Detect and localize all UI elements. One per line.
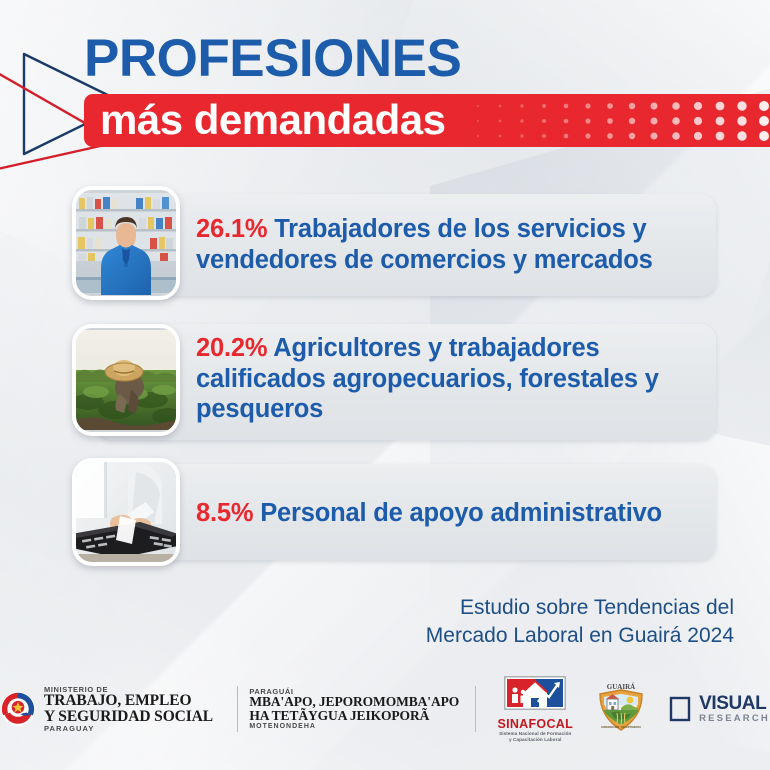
- card-percent: 8.5%: [196, 499, 253, 527]
- list-item: 8.5% Personal de apoyo administrativo: [0, 454, 770, 572]
- farmer-in-field-photo: [76, 328, 176, 432]
- card-thumbnail: [72, 186, 180, 300]
- list-item: 20.2% Agricultores y trabajadores califi…: [0, 320, 770, 438]
- card-percent: 20.2%: [196, 334, 267, 362]
- logo-guarani-wordmark: PARAGUÁI MBA'APO, JEPOROMOMBA'APO HA TET…: [249, 688, 463, 730]
- square-outline-icon: [669, 696, 693, 722]
- logo-visual-research: VISUAL RESEARCH: [659, 695, 770, 723]
- caption-line-1: Estudio sobre Tendencias del: [426, 594, 734, 622]
- card-label: Personal de apoyo administrativo: [260, 499, 662, 527]
- list-item: 26.1% Trabajadores de los servicios y ve…: [0, 186, 770, 304]
- profession-list: 26.1% Trabajadores de los servicios y ve…: [0, 186, 770, 588]
- card-text: 26.1% Trabajadores de los servicios y ve…: [196, 186, 706, 304]
- mtess-line-2: Y SEGURIDAD SOCIAL: [44, 709, 213, 725]
- mtess-country: PARAGUAY: [44, 725, 213, 733]
- mtess-wordmark: MINISTERIO DE TRABAJO, EMPLEO Y SEGURIDA…: [44, 686, 213, 733]
- card-text: 20.2% Agricultores y trabajadores califi…: [196, 320, 706, 438]
- vr-line-1: VISUAL: [699, 695, 770, 714]
- page-subtitle: más demandadas: [100, 99, 446, 141]
- card-text: 8.5% Personal de apoyo administrativo: [196, 454, 706, 572]
- title-block: PROFESIONES: [84, 32, 461, 85]
- infographic-poster: PROFESIONES: [0, 0, 770, 770]
- sinafocal-sub-2: y Capacitación Laboral: [497, 737, 573, 743]
- title-banner: más demandadas: [84, 94, 770, 147]
- logo-guaira-shield: GUAIRÁ: [583, 681, 659, 738]
- page-title: PROFESIONES: [84, 32, 461, 85]
- card-percent: 26.1%: [196, 215, 267, 243]
- dot-pattern-decoration: [470, 94, 770, 147]
- sinafocal-name: SINAFOCAL: [497, 717, 573, 731]
- sinafocal-mark-icon: [504, 676, 566, 710]
- guaira-shield-icon: GUAIRÁ: [595, 681, 647, 733]
- guaira-shield-motto: GOBERNACIÓN · DEPARTAMENTO: [601, 726, 641, 729]
- guarani-line-1: MBA'APO, JEPOROMOMBA'APO: [249, 695, 459, 709]
- logo-ministerio-trabajo: MINISTERIO DE TRABAJO, EMPLEO Y SEGURIDA…: [0, 686, 225, 733]
- logo-sinafocal: SINAFOCAL Sistema Nacional de Formación …: [487, 676, 583, 742]
- paraguay-coat-of-arms-icon: [0, 691, 36, 727]
- caption-line-2: Mercado Laboral en Guairá 2024: [426, 622, 734, 650]
- guarani-line-2: HA TETÃYGUA JEIKOPORÃ: [249, 709, 459, 723]
- header: PROFESIONES: [0, 0, 770, 175]
- card-thumbnail: [72, 324, 180, 436]
- study-caption: Estudio sobre Tendencias del Mercado Lab…: [426, 594, 734, 651]
- vr-line-2: RESEARCH: [699, 714, 770, 723]
- footer-logo-bar: MINISTERIO DE TRABAJO, EMPLEO Y SEGURIDA…: [0, 676, 770, 742]
- hands-on-keyboard-photo: [76, 462, 176, 562]
- visual-research-wordmark: VISUAL RESEARCH: [699, 695, 770, 723]
- mtess-line-1: TRABAJO, EMPLEO: [44, 693, 213, 709]
- card-thumbnail: [72, 458, 180, 566]
- retail-worker-photo: [76, 190, 176, 296]
- sinafocal-sub-1: Sistema Nacional de Formación: [497, 731, 573, 737]
- guarani-foot: MOTENONDEHA: [249, 723, 459, 730]
